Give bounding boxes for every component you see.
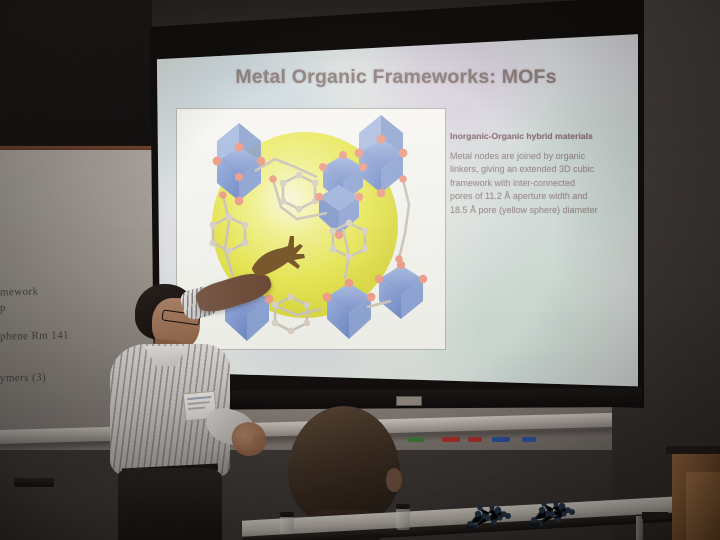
presenter-pointing-hand	[250, 234, 312, 292]
student-hair	[288, 406, 400, 522]
body-line-5: 18.5 Å pore (yellow sphere) diameter	[450, 204, 630, 217]
specimen-jar[interactable]	[396, 508, 410, 530]
door-header	[666, 446, 720, 454]
jar-cap	[396, 504, 410, 509]
body-line-1: Metal nodes are joined by organic	[450, 150, 630, 163]
screen-label-plate	[396, 396, 422, 406]
body-line-4: pores of 11.2 Å aperture width and	[450, 190, 630, 203]
molecular-model-2[interactable]	[528, 498, 580, 528]
slide-title: Metal Organic Frameworks: MOFs	[154, 66, 638, 89]
student-ear	[386, 468, 402, 492]
whiteboard-note-4: ymers (3)	[0, 372, 46, 385]
molecular-model-1[interactable]	[462, 500, 516, 530]
slide-body-paragraph: Metal nodes are joined by organic linker…	[450, 150, 630, 217]
red-marker[interactable]	[442, 437, 460, 442]
specimen-jar-2[interactable]	[280, 516, 294, 534]
presenter	[108, 282, 288, 540]
body-line-3: framework with inter-connected	[450, 177, 630, 190]
whiteboard-note-2: p	[0, 302, 6, 314]
body-line-2: linkers, giving an extended 3D cubic	[450, 163, 630, 176]
slide-body-text: Inorganic-Organic hybrid materials Metal…	[450, 130, 630, 217]
eraser[interactable]	[14, 478, 54, 487]
door-panel	[686, 472, 720, 540]
chalkboard	[0, 0, 152, 152]
wall-strip	[642, 512, 668, 519]
presenter-trousers	[118, 468, 222, 540]
blue-marker[interactable]	[492, 437, 510, 442]
jar-cap-2	[280, 512, 294, 517]
lecture-room-photo: mework p phene Rm 141 ymers (3) Metal Or…	[0, 0, 720, 540]
red-marker-2[interactable]	[468, 437, 482, 442]
blue-marker-2[interactable]	[522, 437, 536, 442]
table-leg	[636, 516, 643, 540]
slide-body-heading: Inorganic-Organic hybrid materials	[450, 130, 630, 143]
whiteboard-note-3: phene Rm 141	[0, 329, 69, 342]
green-marker[interactable]	[408, 437, 424, 442]
whiteboard-note-1: mework	[0, 286, 39, 299]
